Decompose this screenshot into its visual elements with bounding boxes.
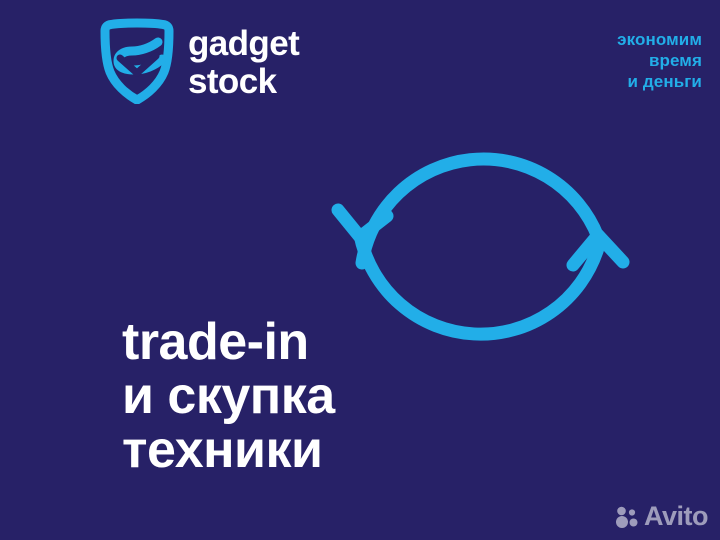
arrow-down-icon (338, 210, 387, 237)
avito-label: Avito (644, 503, 708, 530)
headline-line-1: trade-in (122, 318, 335, 366)
brand-logo-lockup: gadget stock (100, 18, 299, 104)
tagline-line-1: экономим (617, 29, 702, 50)
tagline: экономим время и деньги (617, 29, 702, 92)
headline-line-3: техники (122, 426, 335, 474)
tagline-line-2: время (617, 50, 702, 71)
headline: trade-in и скупка техники (122, 318, 335, 474)
brand-name-line-2: stock (188, 64, 299, 99)
avito-dots-icon (615, 505, 639, 529)
avito-watermark: Avito (615, 503, 708, 530)
brand-wordmark: gadget stock (188, 26, 299, 99)
headline-line-2: и скупка (122, 372, 335, 420)
circular-recycle-arrows-icon (330, 85, 630, 385)
brand-name-line-1: gadget (188, 26, 299, 61)
promo-banner: gadget stock экономим время и деньги tra… (0, 0, 720, 540)
shield-swoosh-logo-icon (100, 18, 174, 104)
